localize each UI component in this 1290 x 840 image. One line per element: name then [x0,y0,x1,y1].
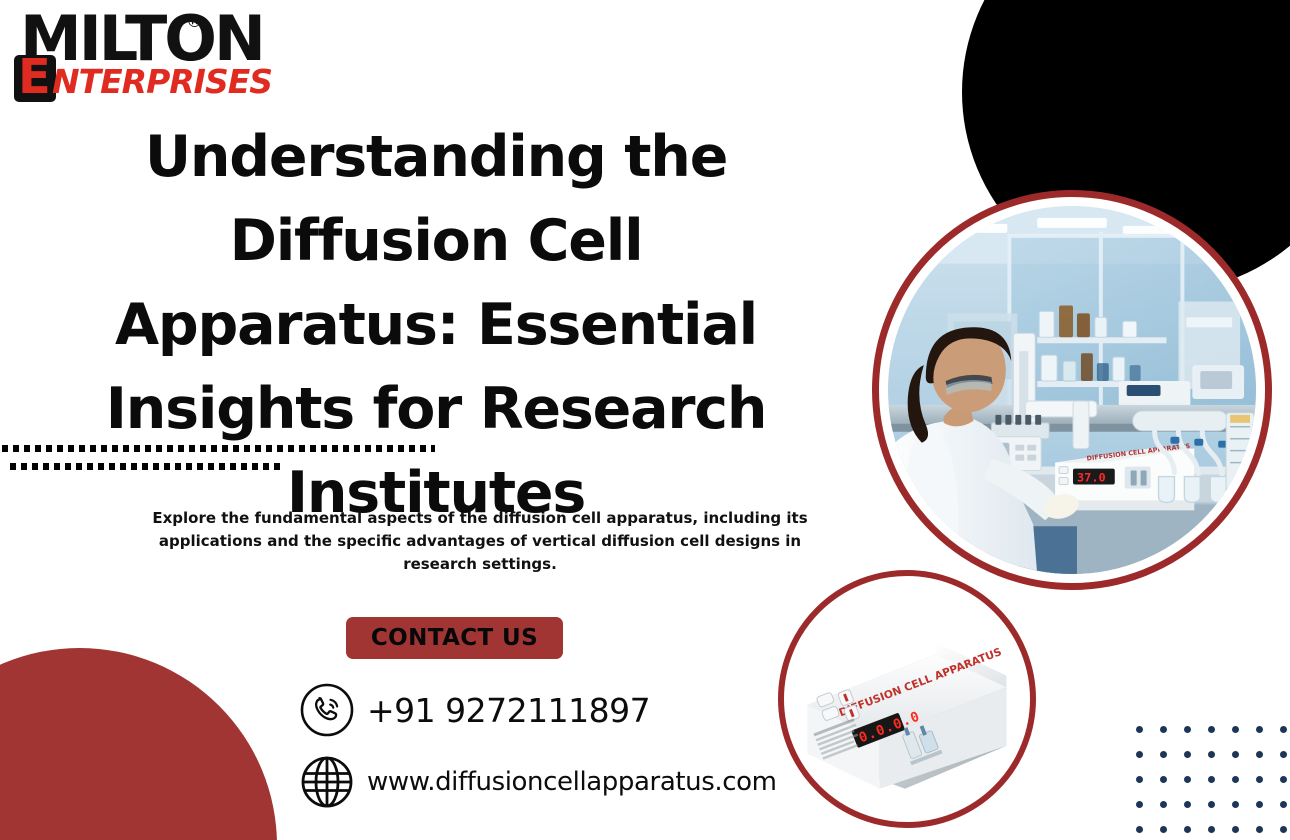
decorative-dot [1136,751,1143,758]
website-url-text: www.diffusioncellapparatus.com [367,767,777,797]
decorative-dot [1280,776,1287,783]
decorative-dot [1184,776,1191,783]
decorative-dot [1184,801,1191,808]
decorative-dot [1256,726,1263,733]
page-title: Understanding the Diffusion Cell Apparat… [60,115,812,535]
phone-call-icon [299,682,355,738]
decorative-dot [1160,726,1167,733]
lab-photo-image: DIFFUSION CELL APPARATUS 37.0 [888,206,1256,574]
decorative-dot [1256,751,1263,758]
product-photo-image: DIFFUSION CELL APPARATUS 0.0.0.0 [790,582,1024,816]
decorative-dot [1184,826,1191,833]
decorative-dot [1160,826,1167,833]
decorative-dot [1160,751,1167,758]
decorative-dot [1280,751,1287,758]
decorative-dot [1208,726,1215,733]
registered-trademark-icon: ® [186,12,203,32]
lab-photo-circle: DIFFUSION CELL APPARATUS 37.0 [872,190,1272,590]
logo-e-letter: E [18,55,51,101]
decorative-dot [1280,826,1287,833]
decorative-dot [1208,826,1215,833]
globe-icon [299,754,355,810]
decorative-dot [1208,801,1215,808]
contact-us-button[interactable]: CONTACT US [346,617,563,659]
decorative-dot [1256,826,1263,833]
logo-enterprises-text: NTERPRISES [52,65,272,98]
subtitle-paragraph: Explore the fundamental aspects of the d… [130,507,830,576]
decorative-dot [1256,776,1263,783]
product-photo-circle: DIFFUSION CELL APPARATUS 0.0.0.0 [778,570,1036,828]
decorative-dot [1232,751,1239,758]
decorative-dot [1280,726,1287,733]
decorative-dot [1208,751,1215,758]
phone-number-text: +91 9272111897 [367,691,650,730]
decorative-dot [1232,776,1239,783]
promotional-banner: MILTON ® E NTERPRISES Understanding the … [0,0,1290,840]
decorative-dot [1232,826,1239,833]
decorative-dot [1160,776,1167,783]
decorative-dot [1136,801,1143,808]
decorative-dot [1256,801,1263,808]
decorative-dot [1208,776,1215,783]
website-contact-row[interactable]: www.diffusioncellapparatus.com [299,754,777,810]
milton-enterprises-logo: MILTON ® E NTERPRISES [8,8,208,104]
svg-text:37.0: 37.0 [1077,471,1106,485]
decorative-dot [1136,826,1143,833]
decorative-dot [1232,726,1239,733]
decorative-dot [1232,801,1239,808]
logo-milton-text: MILTON [20,8,263,70]
phone-contact-row[interactable]: +91 9272111897 [299,682,650,738]
decorative-dot [1136,776,1143,783]
decorative-dot [1136,726,1143,733]
decorative-dot [1184,751,1191,758]
decorative-dot [1160,801,1167,808]
dot-grid-decoration [1136,726,1290,840]
decorative-dot [1280,801,1287,808]
red-circle-decoration [0,648,277,840]
decorative-dot [1184,726,1191,733]
